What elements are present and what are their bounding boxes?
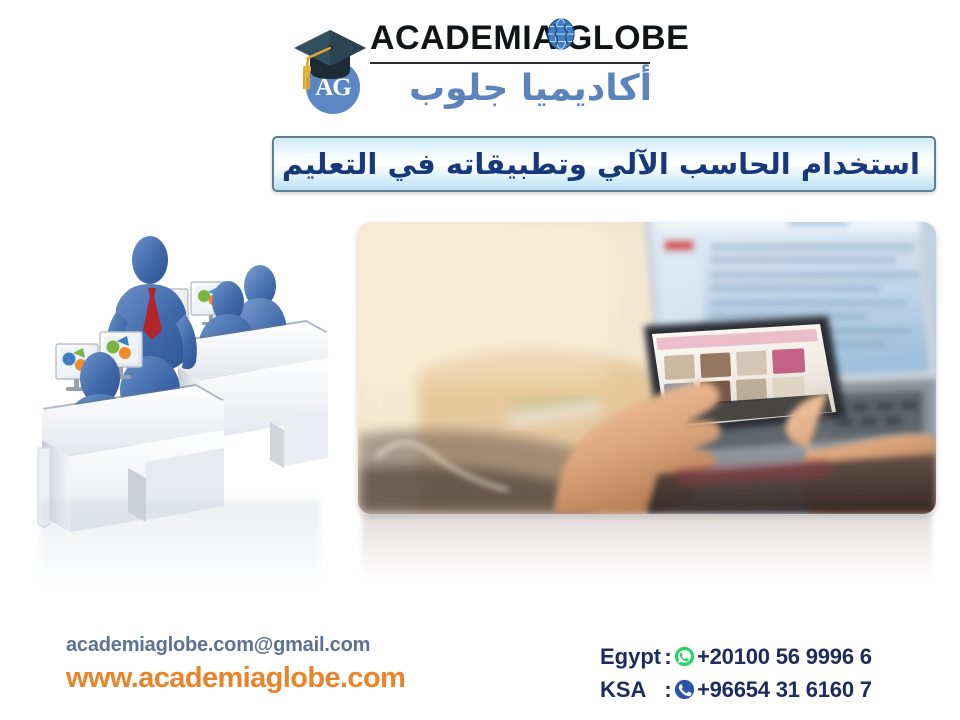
course-title-banner: استخدام الحاسب الآلي وتطبيقاته في التعلي… (272, 136, 936, 192)
website-url[interactable]: www.academiaglobe.com (66, 662, 405, 695)
footer-web-contacts: academiaglobe.com@gmail.com www.academia… (66, 634, 466, 708)
globe-icon (546, 18, 576, 50)
illustration-reflection (40, 500, 320, 610)
phone-colon-egypt: : (662, 644, 674, 670)
course-title-text: استخدام الحاسب الآلي وتطبيقاته في التعلي… (274, 138, 920, 190)
whatsapp-icon[interactable] (674, 646, 695, 667)
phone-number-ksa[interactable]: +96654 31 6160 7 (697, 677, 872, 703)
phone-row-ksa: KSA : +96654 31 6160 7 (600, 673, 920, 706)
brand-logo: AG ACADEMIA GLOBE (292, 8, 652, 120)
tablet-and-laptop-photo (358, 222, 936, 514)
photo-reflection (362, 514, 932, 598)
phone-colon-ksa: : (662, 677, 674, 703)
logo-title-ar: أكاديميا جلوب (370, 64, 652, 114)
phone-number-egypt[interactable]: +20100 56 9996 6 (697, 644, 872, 670)
phone-row-egypt: Egypt : +20100 56 9996 6 (600, 640, 920, 673)
graduation-cap-icon (292, 16, 370, 116)
phone-label-egypt: Egypt (600, 644, 662, 670)
footer-phone-contacts: Egypt : +20100 56 9996 6 KSA : +96654 31… (600, 640, 920, 712)
phone-label-ksa: KSA (600, 677, 662, 703)
phone-icon[interactable] (674, 679, 695, 700)
logo-title-en: ACADEMIA GLOBE (370, 16, 652, 60)
logo-emblem: AG (292, 16, 370, 116)
promo-flyer-page: AG ACADEMIA GLOBE (0, 0, 960, 720)
email-address[interactable]: academiaglobe.com@gmail.com (66, 634, 370, 657)
